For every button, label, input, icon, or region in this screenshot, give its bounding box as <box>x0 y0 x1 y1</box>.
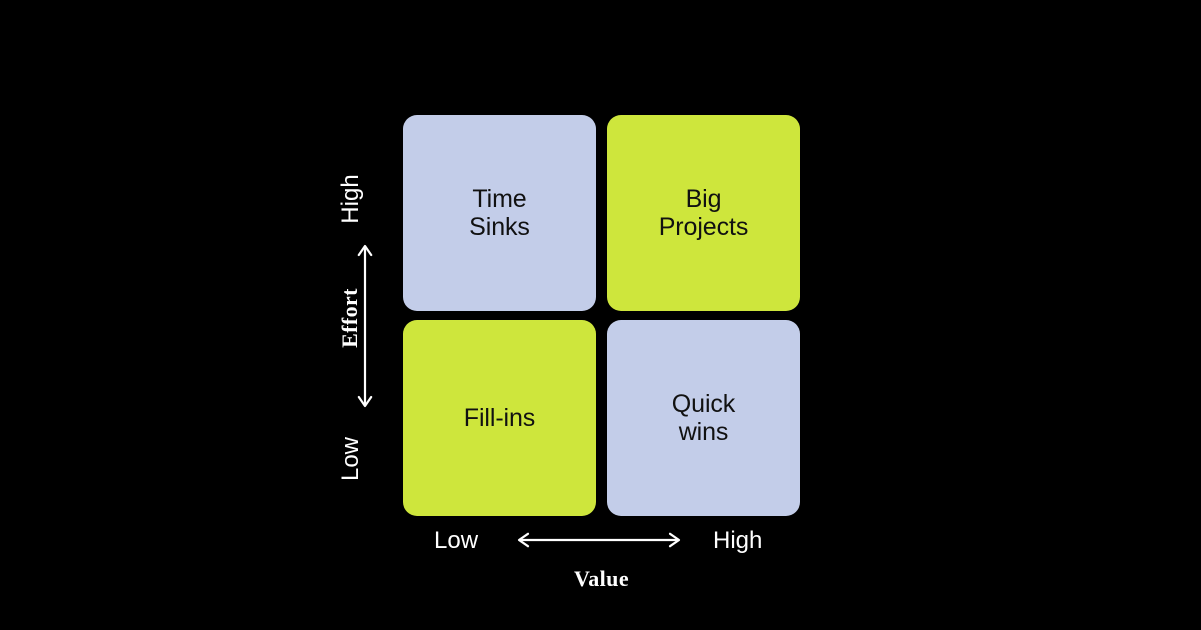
x-axis-value: Low High Value <box>403 522 800 592</box>
x-axis-tick-low: Low <box>434 527 478 555</box>
y-axis-title: Effort <box>337 266 363 370</box>
y-axis-effort: High Effort Low <box>320 115 382 513</box>
y-axis-tick-low: Low <box>337 428 365 490</box>
y-axis-tick-high: High <box>337 168 365 230</box>
quadrant-time-sinks-label: Time Sinks <box>469 185 530 241</box>
x-axis-tick-high: High <box>713 527 762 555</box>
quadrant-big-projects-label: Big Projects <box>659 185 749 241</box>
quadrant-fill-ins[interactable]: Fill-ins <box>403 320 596 516</box>
quadrant-quick-wins[interactable]: Quick wins <box>607 320 800 516</box>
quadrant-fill-ins-label: Fill-ins <box>464 404 535 432</box>
effort-value-matrix-canvas: Time Sinks Big Projects Fill-ins Quick w… <box>0 0 1201 630</box>
quadrant-big-projects[interactable]: Big Projects <box>607 115 800 311</box>
double-arrow-horizontal-icon <box>516 532 682 548</box>
x-axis-title: Value <box>403 566 800 592</box>
quadrant-time-sinks[interactable]: Time Sinks <box>403 115 596 311</box>
quadrant-grid: Time Sinks Big Projects Fill-ins Quick w… <box>403 115 800 513</box>
quadrant-quick-wins-label: Quick wins <box>672 390 735 446</box>
